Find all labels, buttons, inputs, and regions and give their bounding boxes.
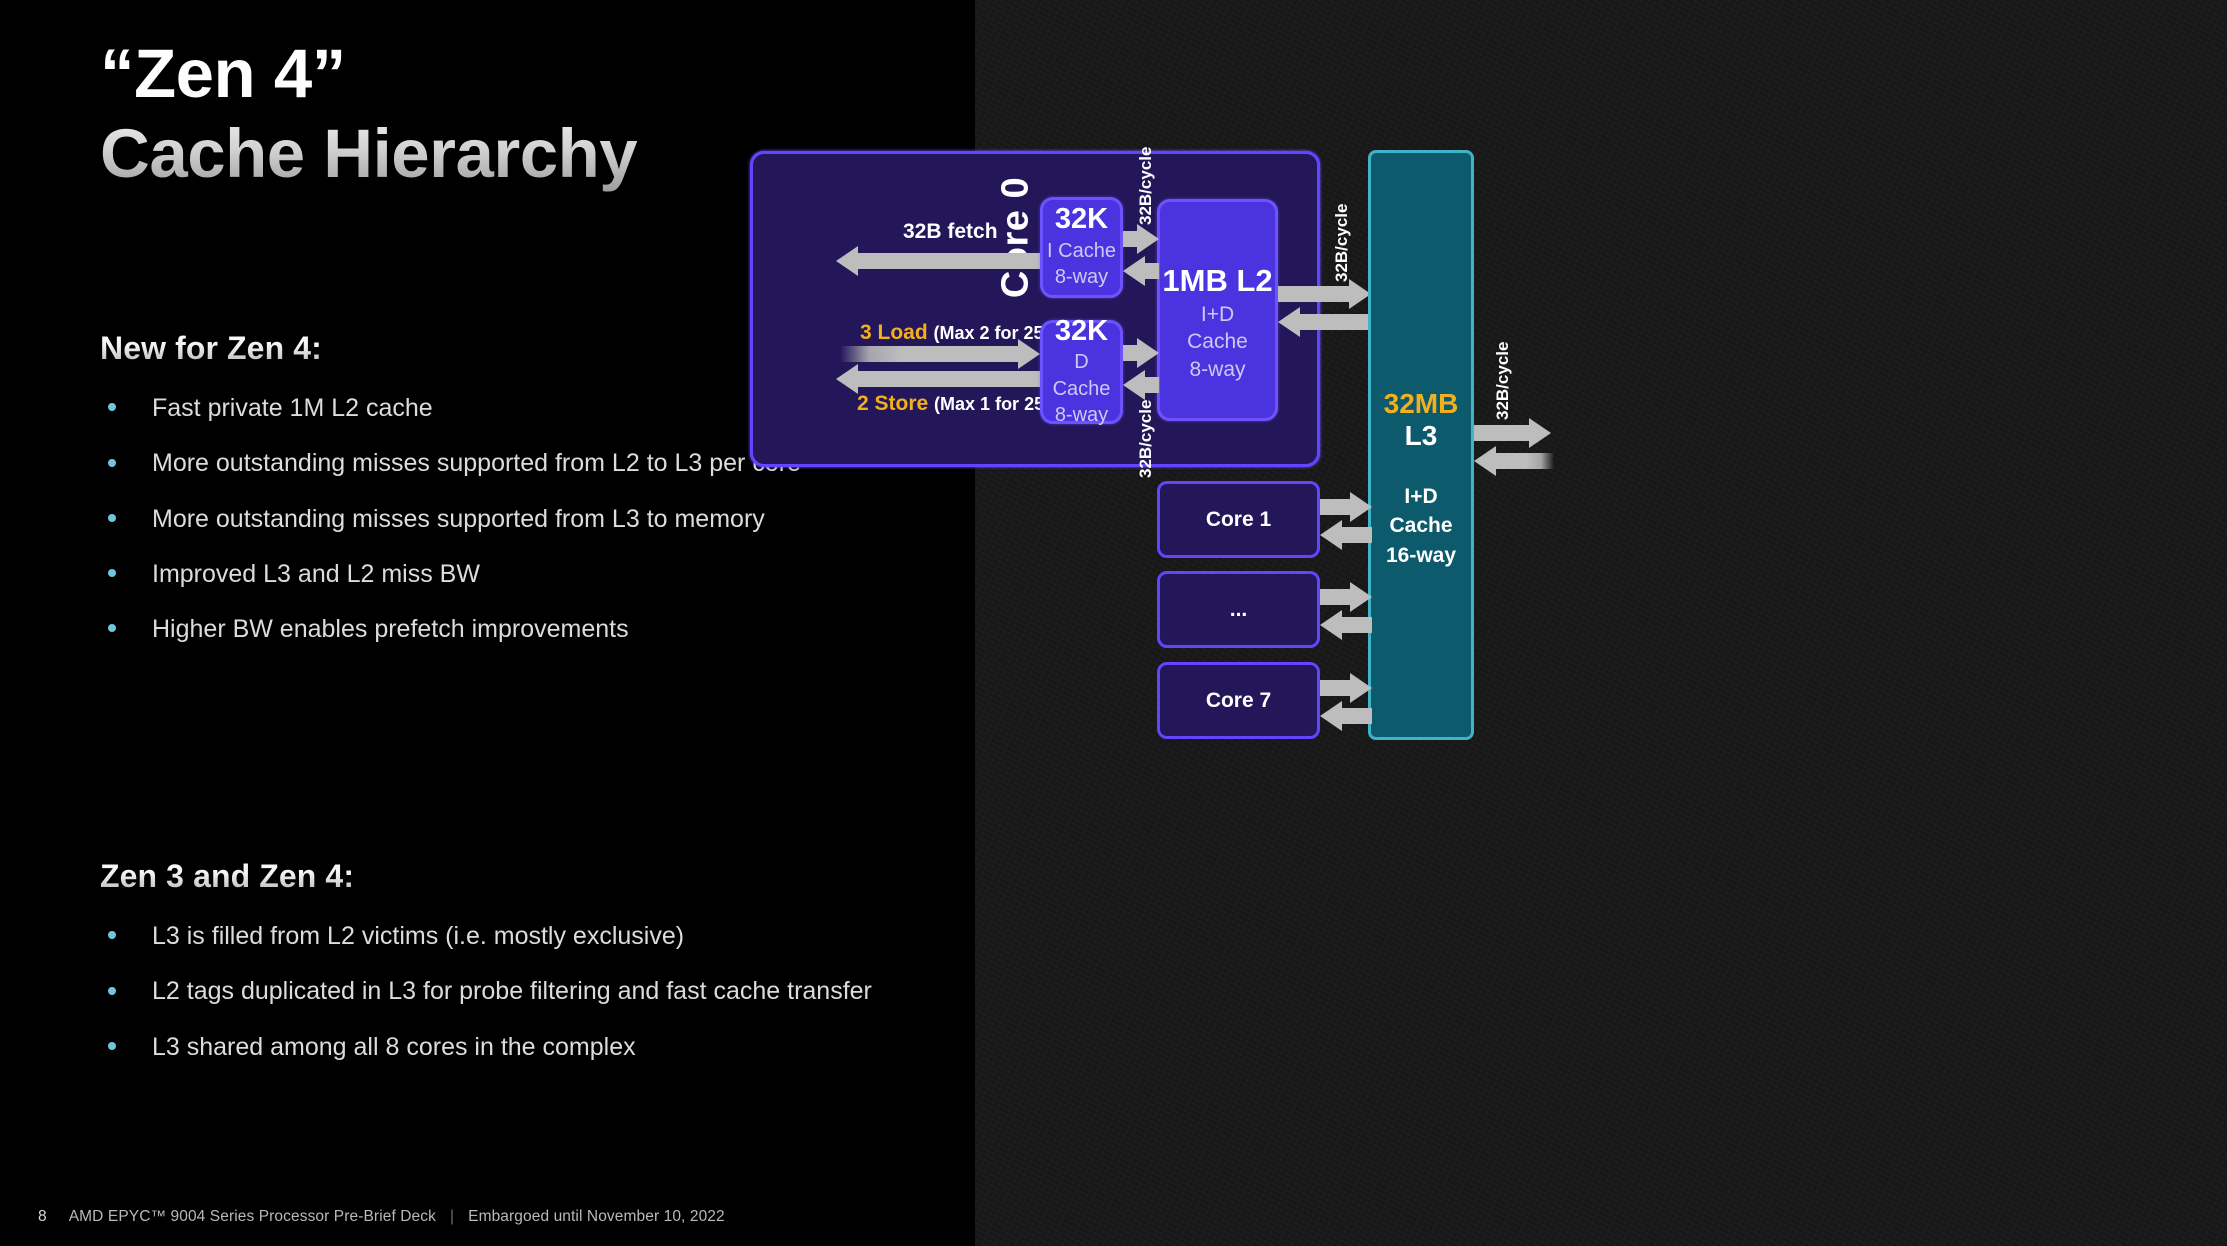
section-heading-zen3-and-zen4: Zen 3 and Zen 4:: [100, 858, 354, 895]
l3-line3: Cache: [1368, 511, 1474, 540]
list-item: Improved L3 and L2 miss BW: [100, 558, 900, 591]
page-number: 8: [38, 1208, 47, 1226]
dcache-block: 32K D Cache 8-way: [1040, 320, 1123, 424]
l2-text-group: 1MB L2 I+D Cache 8-way: [1157, 265, 1278, 384]
core1-label: Core 1: [1206, 508, 1271, 532]
icache-type: I Cache: [1047, 238, 1116, 264]
list-item-text: L3 is filled from L2 victims (i.e. mostl…: [152, 922, 684, 950]
arrow-32b-fetch: [840, 253, 1040, 269]
bullet-dot-icon: [108, 624, 116, 632]
arrow-core7-to-l3: [1320, 680, 1372, 696]
footer-separator: |: [450, 1208, 454, 1226]
label-2-store: 2 Store (Max 1 for 256b): [857, 392, 1071, 416]
dcache-size: 32K: [1055, 316, 1108, 346]
arrow-l3-to-cores: [1320, 617, 1372, 633]
list-item: L3 shared among all 8 cores in the compl…: [100, 1031, 900, 1064]
list-item: L3 is filled from L2 victims (i.e. mostl…: [100, 920, 900, 953]
l2-line2: I+D: [1157, 301, 1278, 329]
diagram-panel: Core 0 32B fetch 3 Load (Max 2 for 256b): [975, 0, 2227, 1246]
l3-title: 32MB L3: [1368, 388, 1474, 452]
list-item: Higher BW enables prefetch improvements: [100, 613, 900, 646]
core-ellipsis-block: ...: [1157, 571, 1320, 648]
list-item-text: Fast private 1M L2 cache: [152, 394, 433, 422]
arrow-l2-to-l3: [1278, 286, 1371, 302]
arrow-dcache-to-l2: [1123, 345, 1159, 361]
l2-line4: 8-way: [1157, 356, 1278, 384]
dcache-type: D Cache: [1043, 349, 1120, 402]
bullet-dot-icon: [108, 403, 116, 411]
arrow-3-load: [840, 346, 1040, 362]
list-item: More outstanding misses supported from L…: [100, 503, 900, 536]
label-bw-l2-l3: 32B/cycle: [1332, 204, 1352, 282]
label-bw-l3-memory: 32B/cycle: [1493, 342, 1513, 420]
l3-line2: I+D: [1368, 482, 1474, 511]
list-item-text: More outstanding misses supported from L…: [152, 449, 801, 477]
label-store-count: 2 Store: [857, 392, 928, 415]
core0-label: Core 0: [995, 163, 1038, 313]
list-item: L2 tags duplicated in L3 for probe filte…: [100, 975, 900, 1008]
section-heading-new-for-zen4: New for Zen 4:: [100, 330, 322, 367]
bullet-dot-icon: [108, 569, 116, 577]
l3-text-group: 32MB L3 I+D Cache 16-way: [1368, 388, 1474, 570]
bullet-dot-icon: [108, 514, 116, 522]
dcache-assoc: 8-way: [1055, 402, 1108, 428]
icache-size: 32K: [1055, 204, 1108, 234]
slide-footer: 8 AMD EPYC™ 9004 Series Processor Pre-Br…: [38, 1208, 725, 1226]
arrow-l3-to-memory: [1474, 425, 1554, 441]
arrow-cores-to-l3: [1320, 589, 1372, 605]
list-item-text: L2 tags duplicated in L3 for probe filte…: [152, 977, 872, 1005]
arrow-2-store: [840, 371, 1040, 387]
bullet-list-zen3-and-zen4: L3 is filled from L2 victims (i.e. mostl…: [100, 920, 900, 1086]
slide-root: “Zen 4” Cache Hierarchy New for Zen 4: F…: [0, 0, 2227, 1246]
l2-line3: Cache: [1157, 328, 1278, 356]
label-load-count: 3 Load: [860, 321, 928, 344]
label-bw-icache-l2: 32B/cycle: [1136, 147, 1156, 225]
list-item-text: Improved L3 and L2 miss BW: [152, 560, 480, 588]
bullet-dot-icon: [108, 1042, 116, 1050]
arrow-l2-to-icache: [1123, 263, 1159, 279]
arrow-icache-to-l2: [1123, 231, 1159, 247]
bullet-dot-icon: [108, 931, 116, 939]
title-line-1: “Zen 4”: [100, 34, 940, 114]
core7-block: Core 7: [1157, 662, 1320, 739]
core7-label: Core 7: [1206, 689, 1271, 713]
l3-detail: I+D Cache 16-way: [1368, 482, 1474, 570]
bullet-dot-icon: [108, 459, 116, 467]
arrow-l3-to-core7: [1320, 708, 1372, 724]
arrow-l3-to-l2: [1278, 314, 1371, 330]
label-3-load: 3 Load (Max 2 for 256b): [860, 321, 1071, 345]
footer-embargo: Embargoed until November 10, 2022: [468, 1208, 725, 1226]
l3-size: 32MB: [1384, 388, 1459, 419]
arrow-l2-to-dcache: [1123, 377, 1159, 393]
list-item-text: Higher BW enables prefetch improvements: [152, 615, 629, 643]
list-item-text: More outstanding misses supported from L…: [152, 505, 765, 533]
label-bw-dcache-l2: 32B/cycle: [1136, 400, 1156, 478]
label-32b-fetch: 32B fetch: [903, 220, 998, 244]
arrow-memory-to-l3: [1474, 453, 1554, 469]
l2-title: 1MB L2: [1157, 265, 1278, 298]
cache-hierarchy-diagram: Core 0 32B fetch 3 Load (Max 2 for 256b): [975, 0, 2227, 1246]
icache-assoc: 8-way: [1055, 264, 1108, 290]
l3-level: L3: [1405, 420, 1438, 451]
arrow-l3-to-core1: [1320, 527, 1372, 543]
l3-line4: 16-way: [1368, 541, 1474, 570]
icache-block: 32K I Cache 8-way: [1040, 197, 1123, 298]
core-ellipsis-label: ...: [1230, 598, 1248, 622]
bullet-dot-icon: [108, 987, 116, 995]
core1-block: Core 1: [1157, 481, 1320, 558]
list-item-text: L3 shared among all 8 cores in the compl…: [152, 1033, 636, 1061]
footer-deck-name: AMD EPYC™ 9004 Series Processor Pre-Brie…: [69, 1208, 436, 1226]
arrow-core1-to-l3: [1320, 499, 1372, 515]
